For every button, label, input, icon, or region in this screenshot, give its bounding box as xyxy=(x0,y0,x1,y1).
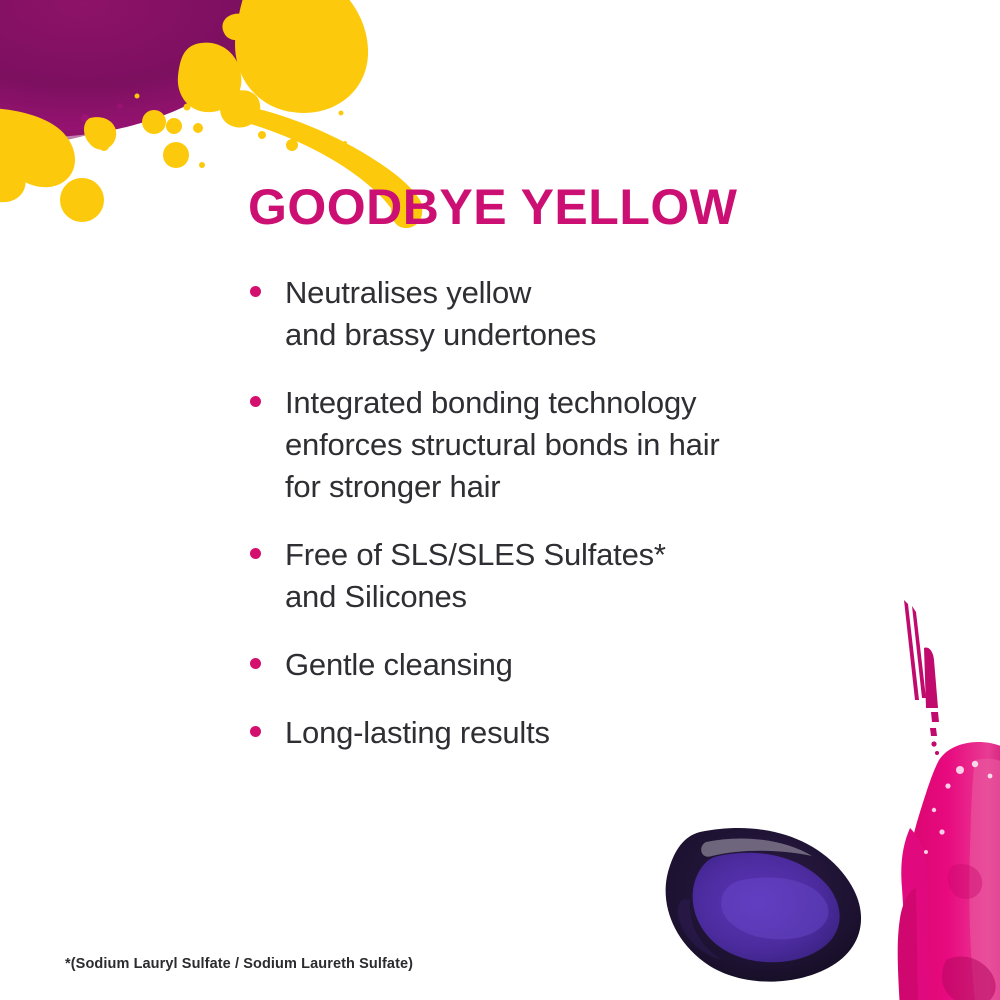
benefits-list: Neutralises yellow and brassy undertones… xyxy=(248,272,908,780)
list-item-line: enforces structural bonds in hair xyxy=(285,424,908,466)
list-item-line: Neutralises yellow xyxy=(285,272,908,314)
list-item-line: Gentle cleansing xyxy=(285,644,908,686)
list-item-line: Integrated bonding technology xyxy=(285,382,908,424)
list-item-line: Free of SLS/SLES Sulfates* xyxy=(285,534,908,576)
list-item-line: and brassy undertones xyxy=(285,314,908,356)
list-item-line: for stronger hair xyxy=(285,466,908,508)
pink-brush-stroke xyxy=(898,600,1000,1000)
list-item-line: Long-lasting results xyxy=(285,712,908,754)
list-item: Long-lasting results xyxy=(248,712,908,754)
list-item: Neutralises yellow and brassy undertones xyxy=(248,272,908,356)
footnote: *(Sodium Lauryl Sulfate / Sodium Laureth… xyxy=(65,956,413,972)
list-item: Gentle cleansing xyxy=(248,644,908,686)
bullet-dot-icon xyxy=(250,396,261,407)
list-item-line: and Silicones xyxy=(285,576,908,618)
product-benefits-poster: GOODBYE YELLOW Neutralises yellow and br… xyxy=(0,0,1000,1000)
list-item-text: Gentle cleansing xyxy=(285,644,908,686)
list-item-text: Long-lasting results xyxy=(285,712,908,754)
list-item: Integrated bonding technology enforces s… xyxy=(248,382,908,508)
bullet-dot-icon xyxy=(250,726,261,737)
list-item-text: Integrated bonding technology enforces s… xyxy=(285,382,908,508)
purple-ink-blob xyxy=(0,0,310,145)
list-item-text: Free of SLS/SLES Sulfates* and Silicones xyxy=(285,534,908,618)
bullet-dot-icon xyxy=(250,658,261,669)
list-item: Free of SLS/SLES Sulfates* and Silicones xyxy=(248,534,908,618)
bullet-dot-icon xyxy=(250,286,261,297)
page-title: GOODBYE YELLOW xyxy=(248,178,737,236)
list-item-text: Neutralises yellow and brassy undertones xyxy=(285,272,908,356)
purple-shampoo-droplet xyxy=(666,828,861,982)
bullet-dot-icon xyxy=(250,548,261,559)
